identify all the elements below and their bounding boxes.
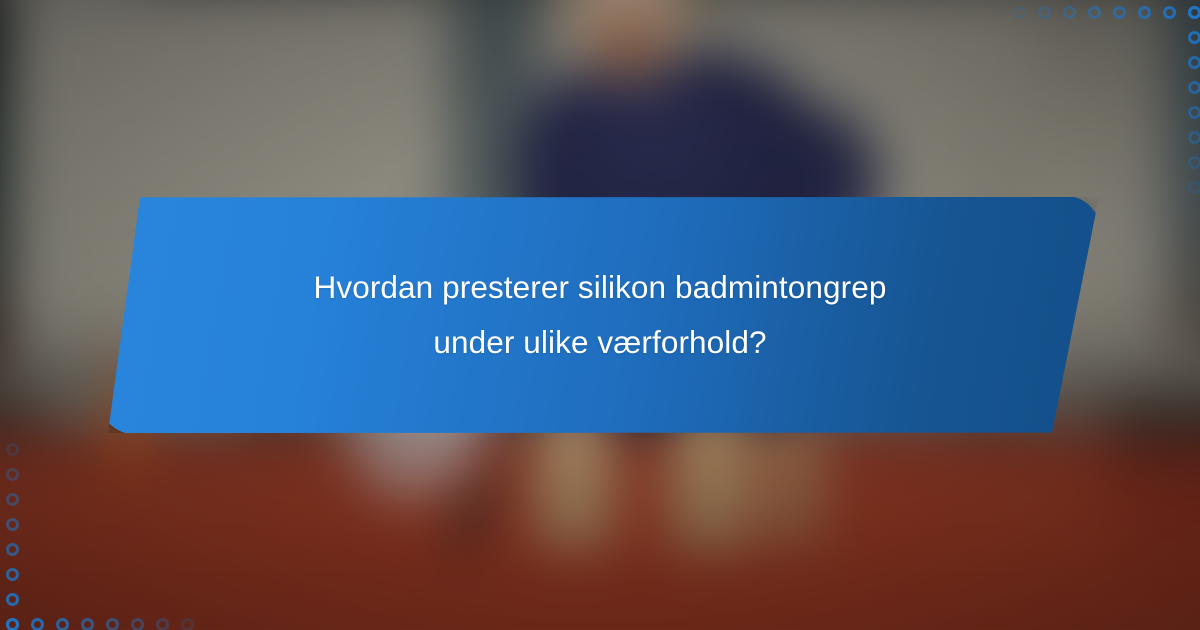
decor-dot [6,568,19,581]
decor-dot [1063,6,1076,19]
decor-dot [1138,6,1151,19]
decor-dot [1188,181,1200,194]
decor-dot [1113,6,1126,19]
question-line-1: Hvordan presterer silikon badmintongrep [314,260,887,315]
decor-dot [1013,6,1026,19]
decor-dot [56,618,69,630]
decor-dot [1163,6,1176,19]
decor-dot [6,518,19,531]
decor-dot [81,618,94,630]
decor-dot [1088,6,1101,19]
decor-dot [1188,56,1200,69]
decor-dot [31,618,44,630]
decor-dot [1188,156,1200,169]
decor-dot [181,618,194,630]
question-line-2: under ulike værforhold? [433,315,766,370]
decor-dot [131,618,144,630]
decor-dot [1188,131,1200,144]
share-card-canvas: Hvordan presterer silikon badmintongrep … [0,0,1200,630]
decor-dot [6,443,19,456]
decor-dot [6,618,19,630]
decor-dot [6,468,19,481]
decor-dot [1188,106,1200,119]
decor-dot [156,618,169,630]
question-card-body: Hvordan presterer silikon badmintongrep … [100,196,1100,434]
decor-dot [106,618,119,630]
decor-dot [1188,31,1200,44]
decor-dot [1188,81,1200,94]
decor-dot [6,543,19,556]
decor-dot [6,593,19,606]
decor-dot [1038,6,1051,19]
decor-dot [1188,6,1200,19]
decor-dot [6,493,19,506]
question-card: Hvordan presterer silikon badmintongrep … [100,196,1100,434]
